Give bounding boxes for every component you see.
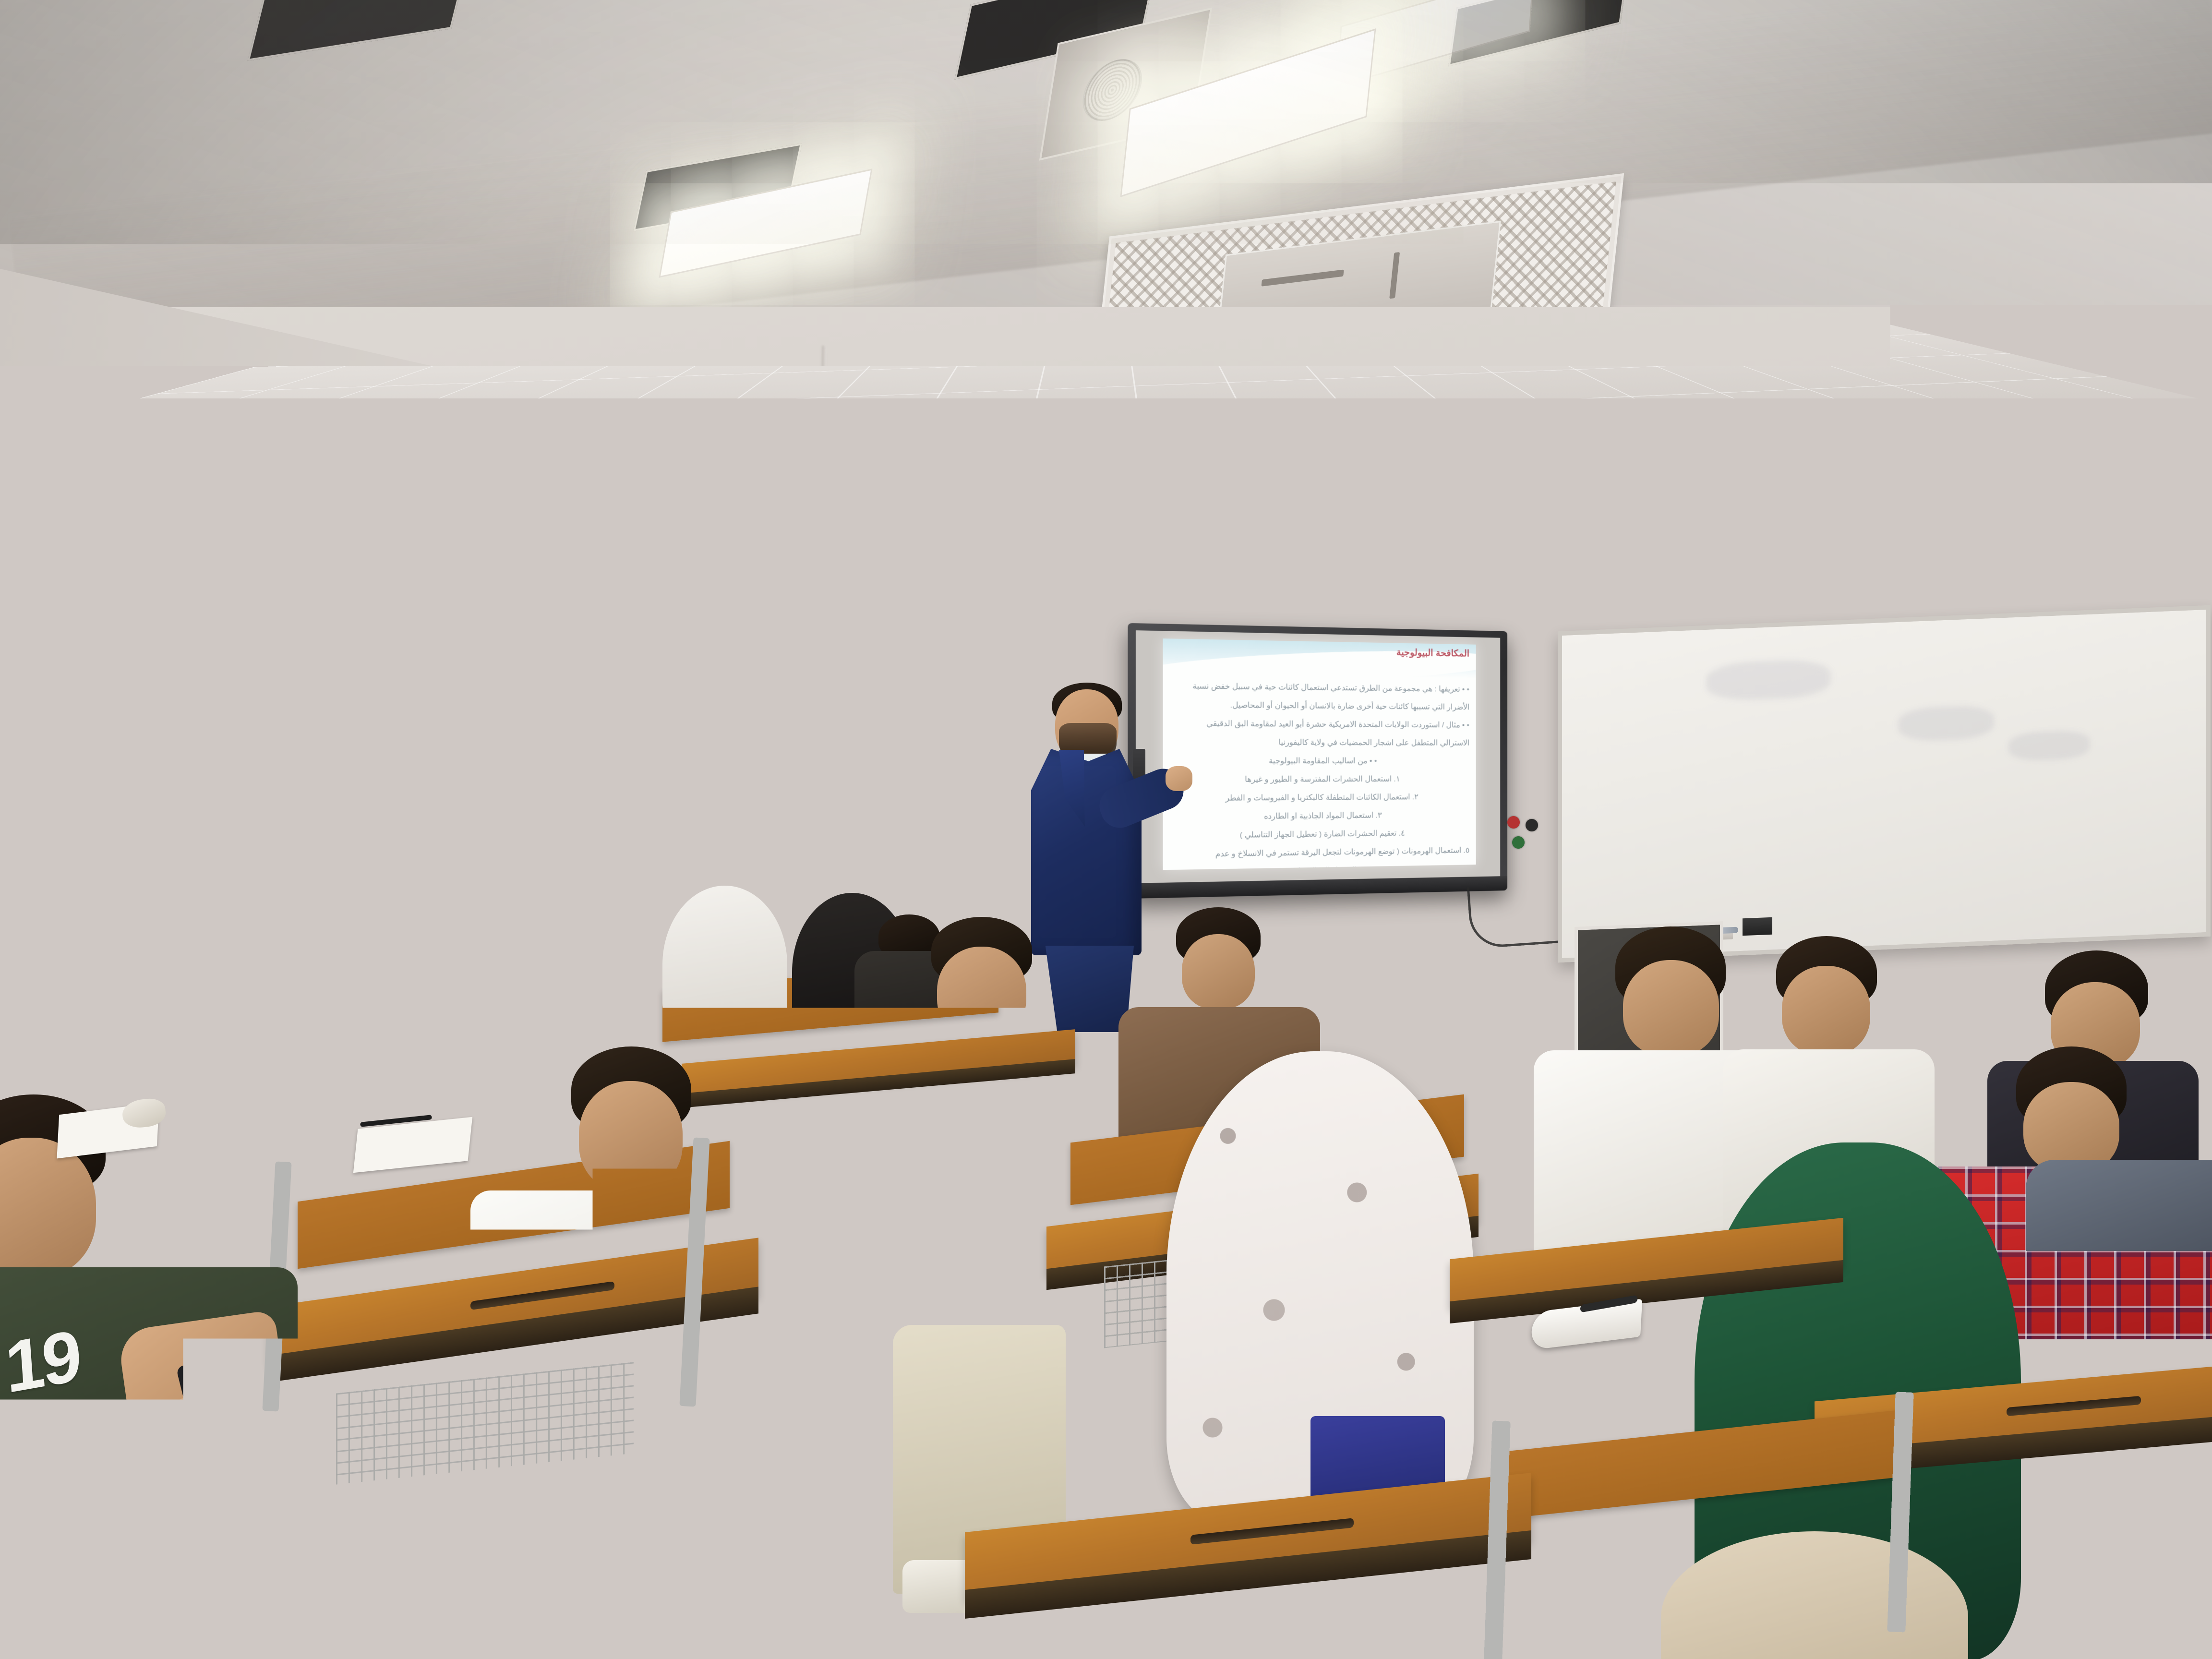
student-lavender-shirt <box>518 1253 922 1659</box>
ac-vent-bar <box>1262 269 1344 286</box>
student-head <box>1623 960 1719 1056</box>
slide-body: • تعريفها : هي مجموعة من الطرق تستدعي اس… <box>1170 678 1469 870</box>
slide-line: الأضرار التي تسببها كائنات حية أخرى ضارة… <box>1170 697 1469 715</box>
student-torso <box>518 1411 922 1659</box>
slide-title: المكافحة البيولوجية <box>1396 647 1469 660</box>
laptop[interactable] <box>726 796 800 854</box>
student-head <box>1182 934 1255 1009</box>
slide-line: ١. استعمال الحشرات المفترسة و الطيور و غ… <box>1170 771 1469 788</box>
whiteboard-smudge <box>2008 730 2090 762</box>
slide-line: ٢. استعمال الكائنات المتطفلة كالبكتريا و… <box>1170 789 1469 806</box>
student-head <box>579 1081 683 1191</box>
smartboard-screen[interactable]: المكافحة البيولوجية • تعريفها : هي مجموع… <box>1136 630 1500 883</box>
slide-line: ٣. استعمال المواد الجاذبية او الطارده <box>1170 807 1469 825</box>
student-beige-hijab <box>1661 1531 1968 1659</box>
projector-brand-label: Hitachi <box>1223 550 1235 553</box>
laptop-screen-content <box>729 799 797 850</box>
wall-socket-black[interactable] <box>1526 819 1538 831</box>
presentation-slide: المكافحة البيولوجية • تعريفها : هي مجموع… <box>1163 638 1476 870</box>
whiteboard-smudge <box>1898 705 1994 742</box>
window-louver-blinds[interactable] <box>0 456 70 718</box>
beige-hijab <box>1661 1531 1968 1659</box>
student-forearm <box>145 1388 364 1554</box>
slide-line: الوصول الى العذراء ) <box>1170 861 1469 870</box>
student-head <box>937 947 1026 1038</box>
smartboard[interactable]: المكافحة البيولوجية • تعريفها : هي مجموع… <box>1128 623 1507 899</box>
student-number-19: 19 <box>0 1094 374 1659</box>
wall-socket-red[interactable] <box>1507 816 1520 829</box>
window <box>0 456 77 874</box>
student-shoulder-wrap <box>2026 1160 2212 1251</box>
presenter-hand <box>1166 766 1192 791</box>
slide-line: • من اساليب المقاومة البيولوجية <box>1170 753 1469 769</box>
student-head <box>665 1291 782 1411</box>
classroom-scene: Hitachi المكافحة البيولوجية • تعريفها : … <box>0 0 2212 1659</box>
ac-vent-bar <box>1389 252 1400 299</box>
student-floral-hijab <box>1166 1051 1474 1522</box>
projector-icon[interactable]: Hitachi <box>1218 529 1340 574</box>
student-head <box>1782 966 1870 1055</box>
whiteboard[interactable] <box>1558 605 2211 963</box>
slide-line: ٤. تعقيم الحشرات الضارة ( تعطيل الجهاز ا… <box>1170 825 1469 844</box>
shirt-number-label: 19 <box>2 1313 82 1409</box>
slide-line: الاسترالي المتطفل على اشجار الحمضيات في … <box>1170 734 1469 751</box>
hijab <box>662 886 787 1044</box>
student-head <box>134 927 206 1004</box>
whiteboard-smudge <box>1706 658 1831 701</box>
slide-line: ٥. استعمال الهرمونات ( توضع الهرمونات لت… <box>1170 843 1469 863</box>
wall-socket-green[interactable] <box>1512 836 1525 849</box>
slide-line: • تعريفها : هي مجموعة من الطرق تستدعي اس… <box>1170 678 1469 697</box>
laptop-slide-lines <box>732 810 794 843</box>
wall-sensor-icon <box>802 418 816 430</box>
slide-line: • مثال / استوردت الولايات المتحدة الامري… <box>1170 716 1469 733</box>
